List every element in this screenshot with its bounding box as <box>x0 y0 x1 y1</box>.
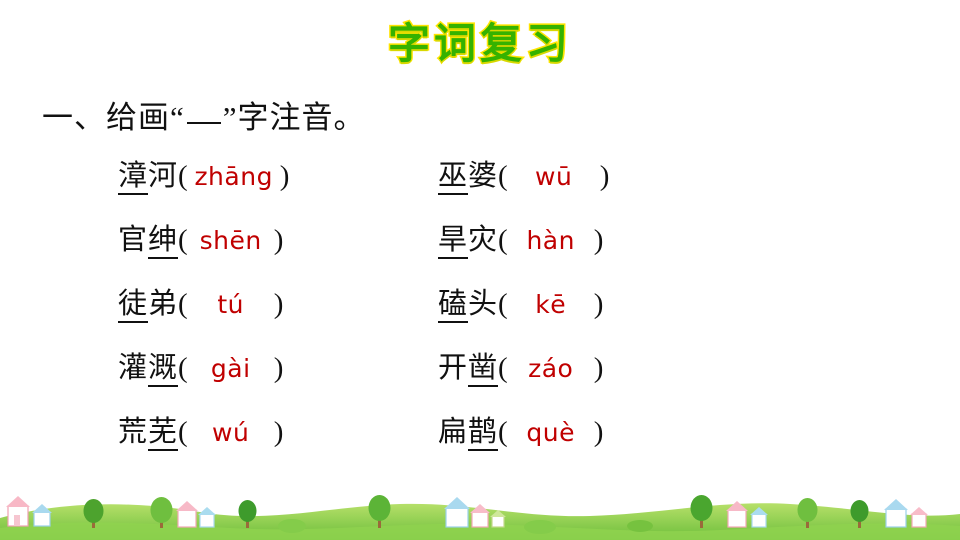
paren-open: ( <box>178 288 188 321</box>
exercise-item: 巫婆 ( wū ) <box>438 152 778 194</box>
word-text: 巫婆 <box>438 152 498 194</box>
word-text: 徒弟 <box>118 280 178 322</box>
plain-char: 头 <box>468 288 498 320</box>
pinyin-answer[interactable]: wú <box>188 418 274 447</box>
paren-close: ) <box>274 224 284 257</box>
exercise-item: 漳河 ( zhāng ) <box>118 152 438 194</box>
paren-close: ) <box>594 288 604 321</box>
page-title: 字词复习 <box>388 10 572 71</box>
word-text: 旱灾 <box>438 216 498 258</box>
blank-underline-mark <box>187 122 221 124</box>
underlined-char: 旱 <box>438 224 468 259</box>
paren-open: ( <box>498 352 508 385</box>
word-text: 漳河 <box>118 152 178 194</box>
word-text: 灌溉 <box>118 344 178 386</box>
plain-char: 河 <box>148 160 178 192</box>
house-group-center <box>444 497 506 527</box>
paren-open: ( <box>498 416 508 449</box>
exercise-item: 磕头 ( kē ) <box>438 280 778 322</box>
pinyin-answer[interactable]: zhāng <box>188 162 280 191</box>
pinyin-answer[interactable]: tú <box>188 290 274 319</box>
plain-char: 开 <box>438 352 468 384</box>
paren-close: ) <box>594 352 604 385</box>
bottom-scenery-illustration <box>0 478 960 540</box>
underlined-char: 磕 <box>438 288 468 323</box>
paren-open: ( <box>178 352 188 385</box>
paren-close: ) <box>274 288 284 321</box>
pinyin-answer[interactable]: kē <box>508 290 594 319</box>
title-banner: 字词复习 <box>0 10 960 71</box>
section-heading-prefix: 一、给画“ <box>42 100 185 135</box>
paren-open: ( <box>498 288 508 321</box>
exercise-item: 旱灾 ( hàn ) <box>438 216 778 258</box>
exercise-list: 漳河 ( zhāng ) 巫婆 ( wū ) 官绅 ( shēn ) 旱灾 ( … <box>118 152 818 472</box>
paren-close: ) <box>274 416 284 449</box>
plain-char: 官 <box>118 224 148 256</box>
pinyin-answer[interactable]: záo <box>508 354 594 383</box>
exercise-row: 漳河 ( zhāng ) 巫婆 ( wū ) <box>118 152 818 216</box>
paren-open: ( <box>498 160 508 193</box>
pinyin-answer[interactable]: wū <box>508 162 600 191</box>
plain-char: 扁 <box>438 416 468 448</box>
pinyin-answer[interactable]: shēn <box>188 226 274 255</box>
paren-open: ( <box>178 160 188 193</box>
underlined-char: 绅 <box>148 224 178 259</box>
underlined-char: 巫 <box>438 160 468 195</box>
exercise-row: 荒芜 ( wú ) 扁鹊 ( què ) <box>118 408 818 472</box>
section-heading-suffix: ”字注音。 <box>223 100 366 135</box>
underlined-char: 芜 <box>148 416 178 451</box>
exercise-item: 官绅 ( shēn ) <box>118 216 438 258</box>
paren-close: ) <box>594 224 604 257</box>
paren-open: ( <box>178 416 188 449</box>
exercise-item: 灌溉 ( gài ) <box>118 344 438 386</box>
exercise-item: 扁鹊 ( què ) <box>438 408 778 450</box>
house-group-middle <box>176 501 216 527</box>
underlined-char: 徒 <box>118 288 148 323</box>
word-text: 开凿 <box>438 344 498 386</box>
underlined-char: 漳 <box>118 160 148 195</box>
section-heading: 一、给画“”字注音。 <box>42 92 366 137</box>
exercise-item: 徒弟 ( tú ) <box>118 280 438 322</box>
paren-close: ) <box>280 160 290 193</box>
paren-close: ) <box>594 416 604 449</box>
exercise-row: 灌溉 ( gài ) 开凿 ( záo ) <box>118 344 818 408</box>
word-text: 扁鹊 <box>438 408 498 450</box>
exercise-item: 开凿 ( záo ) <box>438 344 778 386</box>
exercise-item: 荒芜 ( wú ) <box>118 408 438 450</box>
pinyin-answer[interactable]: què <box>508 418 594 447</box>
plain-char: 弟 <box>148 288 178 320</box>
paren-open: ( <box>178 224 188 257</box>
word-text: 官绅 <box>118 216 178 258</box>
plain-char: 灌 <box>118 352 148 384</box>
paren-close: ) <box>274 352 284 385</box>
pinyin-answer[interactable]: hàn <box>508 226 594 255</box>
plain-char: 荒 <box>118 416 148 448</box>
exercise-row: 官绅 ( shēn ) 旱灾 ( hàn ) <box>118 216 818 280</box>
plain-char: 灾 <box>468 224 498 256</box>
plain-char: 婆 <box>468 160 498 192</box>
paren-open: ( <box>498 224 508 257</box>
pinyin-answer[interactable]: gài <box>188 354 274 383</box>
underlined-char: 溉 <box>148 352 178 387</box>
underlined-char: 鹊 <box>468 416 498 451</box>
word-text: 磕头 <box>438 280 498 322</box>
word-text: 荒芜 <box>118 408 178 450</box>
underlined-char: 凿 <box>468 352 498 387</box>
paren-close: ) <box>600 160 610 193</box>
exercise-row: 徒弟 ( tú ) 磕头 ( kē ) <box>118 280 818 344</box>
